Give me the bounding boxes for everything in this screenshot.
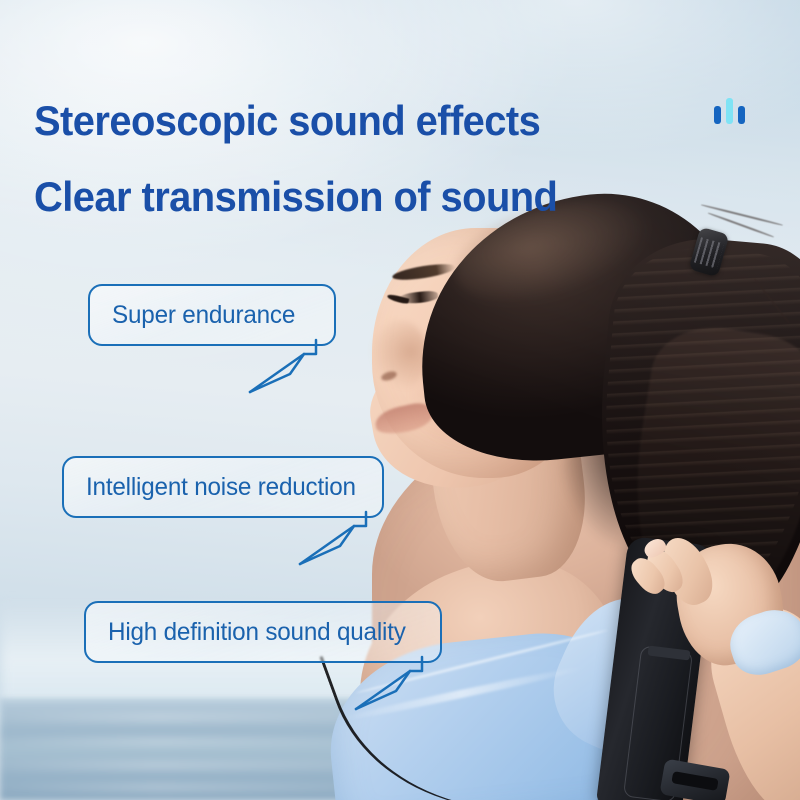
feature-bubble-noise-reduction: Intelligent noise reduction	[62, 456, 384, 518]
nose	[370, 320, 428, 390]
signal-bar-1	[714, 106, 721, 124]
signal-bars-icon	[714, 98, 745, 124]
feature-bubble-label: Super endurance	[112, 301, 295, 330]
feature-bubble-label: High definition sound quality	[108, 618, 406, 647]
product-banner: Stereoscopic sound effects Clear transmi…	[0, 0, 800, 800]
feature-bubble-super-endurance: Super endurance	[88, 284, 336, 346]
headline-line-2: Clear transmission of sound	[34, 176, 557, 218]
feature-bubble-label: Intelligent noise reduction	[86, 473, 356, 502]
feature-bubble-sound-quality: High definition sound quality	[84, 601, 442, 663]
signal-bar-2	[726, 98, 733, 124]
headline-line-1: Stereoscopic sound effects	[34, 100, 540, 142]
signal-bar-3	[738, 106, 745, 124]
